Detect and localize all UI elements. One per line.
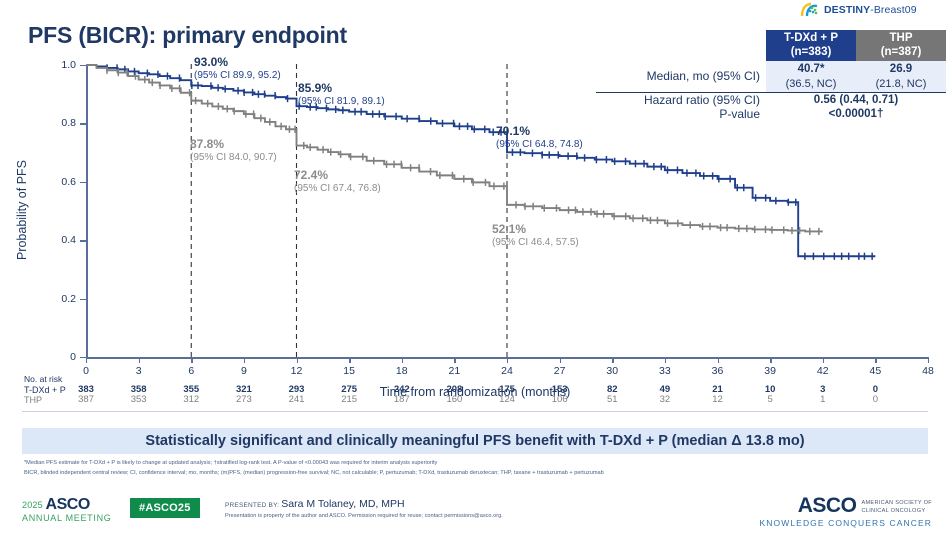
asco-brand: ASCO (46, 496, 90, 513)
at-risk-value: 51 (607, 394, 618, 405)
row-label-pvalue: P-value (596, 107, 766, 121)
study-logo-label: DESTINY-Breast09 (824, 4, 917, 16)
at-risk-value: 12 (712, 394, 723, 405)
row-label-hazard-ratio: Hazard ratio (95% CI) (596, 93, 766, 107)
col1-line1: THP (860, 31, 942, 45)
landmark-annotation: 93.0%(95% CI 89.9, 95.2) (194, 56, 281, 81)
col1-line2: (n=387) (860, 45, 942, 59)
x-tick-label: 24 (501, 365, 513, 377)
conclusion-banner: Statistically significant and clinically… (22, 428, 928, 454)
footnotes: *Median PFS estimate for T-DXd + P is li… (24, 458, 930, 479)
median-tdxd: 40.7* (36.5, NC) (766, 61, 856, 93)
x-tick-label: 15 (343, 365, 355, 377)
x-tick-label: 6 (188, 365, 194, 377)
at-risk-value: 106 (552, 394, 568, 405)
footnote-1: *Median PFS estimate for T-DXd + P is li… (24, 458, 930, 468)
x-tick-label: 9 (241, 365, 247, 377)
presented-by: PRESENTED BY: Sara M Tolaney, MD, MPH Pr… (225, 498, 503, 519)
x-tick-label: 30 (606, 365, 618, 377)
x-tick-label: 12 (291, 365, 303, 377)
median-thp-ci: (21.8, NC) (858, 77, 944, 91)
table-row-hr: Hazard ratio (95% CI) 0.56 (0.44, 0.71) (596, 93, 946, 107)
header-spacer (596, 30, 766, 61)
asco-year: 2025 (22, 500, 43, 510)
x-tick-label: 48 (922, 365, 934, 377)
slide: DESTINY-Breast09 PFS (BICR): primary end… (0, 0, 950, 533)
at-risk-divider (22, 411, 928, 412)
at-risk-value: 187 (394, 394, 410, 405)
at-risk-row-label-tdxd: T-DXd + P (24, 385, 66, 395)
median-thp: 26.9 (21.8, NC) (856, 61, 946, 93)
x-tick-label: 0 (83, 365, 89, 377)
asco-annual-meeting-logo: 2025 ASCO ANNUAL MEETING (22, 497, 111, 523)
asco-logo-right: ASCO AMERICAN SOCIETY OF CLINICAL ONCOLO… (760, 495, 933, 528)
at-risk-value: 5 (767, 394, 772, 405)
landmark-percent: 85.9% (298, 82, 385, 96)
landmark-percent: 70.1% (496, 125, 583, 139)
results-table: T-DXd + P (n=383) THP (n=387) Median, mo… (596, 30, 946, 121)
asco-right-line2: CLINICAL ONCOLOGY (861, 508, 925, 514)
landmark-ci: (95% CI 67.4, 76.8) (294, 183, 381, 195)
destiny-breast-icon (800, 2, 820, 18)
at-risk-value: 241 (289, 394, 305, 405)
median-thp-main: 26.9 (890, 63, 912, 75)
permission-note: Presentation is property of the author a… (225, 513, 503, 519)
landmark-ci: (95% CI 81.9, 89.1) (298, 96, 385, 108)
landmark-annotation: 70.1%(95% CI 64.8, 74.8) (496, 125, 583, 150)
landmark-ci: (95% CI 84.0, 90.7) (190, 152, 277, 164)
at-risk-value: 387 (78, 394, 94, 405)
page-title: PFS (BICR): primary endpoint (28, 22, 347, 49)
landmark-annotation: 72.4%(95% CI 67.4, 76.8) (294, 169, 381, 194)
x-tick-label: 27 (554, 365, 566, 377)
x-tick-label: 18 (396, 365, 408, 377)
col0-line2: (n=383) (770, 45, 852, 59)
landmark-annotation: 52.1%(95% CI 46.4, 57.5) (492, 223, 579, 248)
pvalue-value: <0.00001† (766, 107, 946, 121)
at-risk-value: 312 (183, 394, 199, 405)
landmark-percent: 87.8% (190, 138, 277, 152)
at-risk-title: No. at risk (24, 374, 62, 384)
asco-right-line1: AMERICAN SOCIETY OF (861, 500, 932, 506)
table-row-median: Median, mo (95% CI) 40.7* (36.5, NC) 26.… (596, 61, 946, 93)
x-tick-label: 39 (764, 365, 776, 377)
hashtag-badge: #ASCO25 (130, 498, 200, 518)
landmark-percent: 93.0% (194, 56, 281, 70)
at-risk-row-label-thp: THP (24, 395, 42, 405)
landmark-ci: (95% CI 64.8, 74.8) (496, 139, 583, 151)
x-tick-label: 36 (712, 365, 724, 377)
at-risk-value: 124 (499, 394, 515, 405)
asco-right-subtitle: AMERICAN SOCIETY OF CLINICAL ONCOLOGY (861, 495, 932, 515)
asco-tagline: KNOWLEDGE CONQUERS CANCER (760, 518, 933, 528)
at-risk-value: 215 (341, 394, 357, 405)
presenter-name: Sara M Tolaney, MD, MPH (281, 498, 404, 510)
footnote-2: BICR, blinded independent central review… (24, 468, 930, 478)
hazard-ratio-value: 0.56 (0.44, 0.71) (766, 93, 946, 107)
at-risk-value: 160 (446, 394, 462, 405)
x-tick-label: 45 (870, 365, 882, 377)
table-header-row: T-DXd + P (n=383) THP (n=387) (596, 30, 946, 61)
at-risk-value: 273 (236, 394, 252, 405)
at-risk-value: 0 (873, 394, 878, 405)
conclusion-banner-text: Statistically significant and clinically… (145, 433, 804, 449)
landmark-annotation: 85.9%(95% CI 81.9, 89.1) (298, 82, 385, 107)
x-tick-label: 42 (817, 365, 829, 377)
landmark-percent: 72.4% (294, 169, 381, 183)
column-header-tdxd: T-DXd + P (n=383) (766, 30, 856, 61)
x-tick-label: 3 (136, 365, 142, 377)
column-header-thp: THP (n=387) (856, 30, 946, 61)
asco-right-brand: ASCO (798, 495, 857, 516)
landmark-ci: (95% CI 46.4, 57.5) (492, 237, 579, 249)
landmark-ci: (95% CI 89.9, 95.2) (194, 70, 281, 82)
table-row-pvalue: P-value <0.00001† (596, 107, 946, 121)
at-risk-value: 32 (660, 394, 671, 405)
slide-footer: 2025 ASCO ANNUAL MEETING #ASCO25 PRESENT… (0, 493, 950, 533)
x-tick-label: 21 (449, 365, 461, 377)
at-risk-value: 353 (131, 394, 147, 405)
row-label-median: Median, mo (95% CI) (596, 61, 766, 93)
col0-line1: T-DXd + P (770, 31, 852, 45)
study-logo: DESTINY-Breast09 (800, 2, 917, 18)
asco-annual-sub: ANNUAL MEETING (22, 514, 111, 523)
x-tick-label: 33 (659, 365, 671, 377)
presented-by-label: PRESENTED BY: (225, 502, 279, 509)
landmark-percent: 52.1% (492, 223, 579, 237)
median-tdxd-main: 40.7* (798, 63, 825, 75)
median-tdxd-ci: (36.5, NC) (768, 77, 854, 91)
landmark-annotation: 87.8%(95% CI 84.0, 90.7) (190, 138, 277, 163)
at-risk-value: 1 (820, 394, 825, 405)
